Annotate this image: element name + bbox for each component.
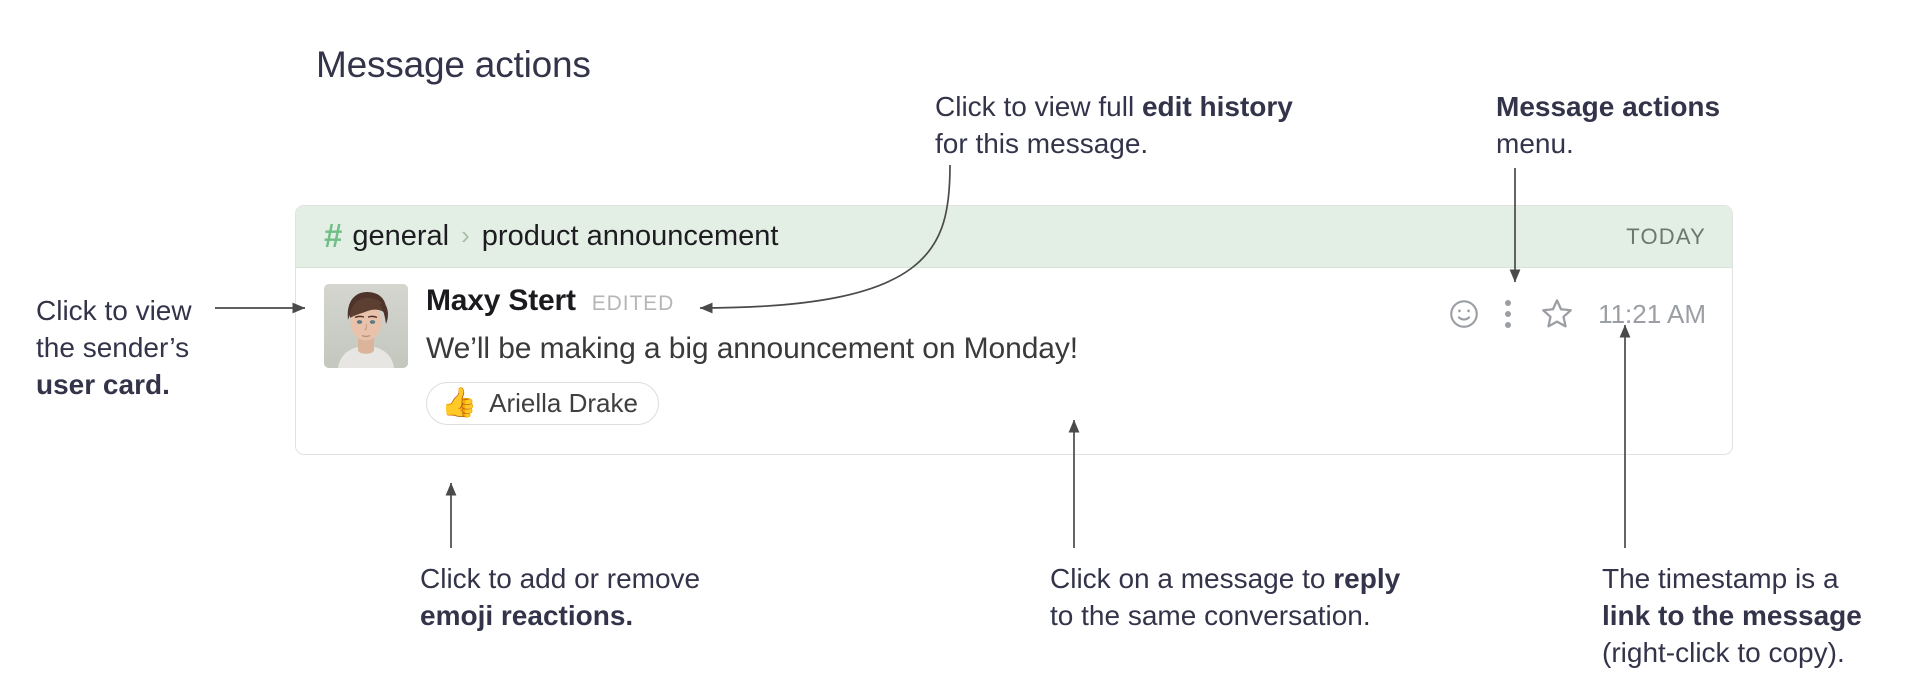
annotation-line: the sender’s xyxy=(36,329,266,366)
smiley-face-icon[interactable] xyxy=(1440,292,1488,336)
annotation-line: Message actions xyxy=(1496,88,1796,125)
annotation-emphasis: emoji reactions. xyxy=(420,600,633,631)
avatar[interactable] xyxy=(324,284,408,368)
annotation-line: Click on a message to reply xyxy=(1050,560,1450,597)
annotation-line: Click to view full edit history xyxy=(935,88,1355,125)
vertical-dots-glyph xyxy=(1505,298,1511,331)
annotation-line: to the same conversation. xyxy=(1050,597,1450,634)
annotation-emphasis: edit history xyxy=(1142,91,1293,122)
annotation-user-card: Click to view the sender’s user card. xyxy=(36,292,266,403)
message-actions-toolbar[interactable]: 11:21 AM xyxy=(1440,292,1706,336)
star-outline-glyph xyxy=(1538,295,1576,333)
annotation-timestamp-link: The timestamp is a link to the message (… xyxy=(1602,560,1912,671)
stream-name[interactable]: general xyxy=(352,220,449,253)
sender-name[interactable]: Maxy Stert xyxy=(426,284,576,318)
message-row[interactable]: Maxy Stert EDITED We’ll be making a big … xyxy=(296,268,1732,425)
chevron-right-icon: › xyxy=(461,220,470,251)
thumbs-up-icon: 👍 xyxy=(441,389,477,418)
vertical-dots-icon[interactable] xyxy=(1488,292,1528,336)
annotation-emphasis: reply xyxy=(1333,563,1400,594)
annotation-emphasis: Message actions xyxy=(1496,91,1720,122)
star-outline-icon[interactable] xyxy=(1528,292,1586,336)
topic-name[interactable]: product announcement xyxy=(482,220,779,253)
smiley-face-glyph xyxy=(1447,297,1481,331)
annotation-line: Click to view xyxy=(36,292,266,329)
message-card[interactable]: # general › product announcement TODAY xyxy=(295,205,1733,455)
annotation-emphasis: user card. xyxy=(36,369,170,400)
annotation-line: emoji reactions. xyxy=(420,597,760,634)
annotation-line: (right-click to copy). xyxy=(1602,634,1912,671)
annotation-line: for this message. xyxy=(935,125,1355,162)
annotation-emphasis: link to the message xyxy=(1602,600,1862,631)
annotation-text: Click on a message to xyxy=(1050,563,1333,594)
stream-topic-header: # general › product announcement TODAY xyxy=(296,206,1732,268)
annotation-text: Click to view full xyxy=(935,91,1142,122)
annotation-line: Click to add or remove xyxy=(420,560,760,597)
message-timestamp[interactable]: 11:21 AM xyxy=(1598,299,1706,330)
avatar-image xyxy=(324,284,408,368)
annotation-emoji-reactions: Click to add or remove emoji reactions. xyxy=(420,560,760,634)
annotation-line: The timestamp is a xyxy=(1602,560,1912,597)
annotation-actions-menu: Message actions menu. xyxy=(1496,88,1796,162)
annotation-reply: Click on a message to reply to the same … xyxy=(1050,560,1450,634)
reaction-pill[interactable]: 👍 Ariella Drake xyxy=(426,382,659,425)
annotation-line: link to the message xyxy=(1602,597,1912,634)
page-title: Message actions xyxy=(316,44,591,86)
annotation-line: menu. xyxy=(1496,125,1796,162)
date-label: TODAY xyxy=(1626,224,1706,250)
annotation-edit-history: Click to view full edit history for this… xyxy=(935,88,1355,162)
reaction-label: Ariella Drake xyxy=(489,388,638,419)
hash-icon: # xyxy=(324,219,342,252)
edited-badge[interactable]: EDITED xyxy=(592,292,674,316)
message-text[interactable]: We’ll be making a big announcement on Mo… xyxy=(426,332,1706,366)
annotation-line: user card. xyxy=(36,366,266,403)
